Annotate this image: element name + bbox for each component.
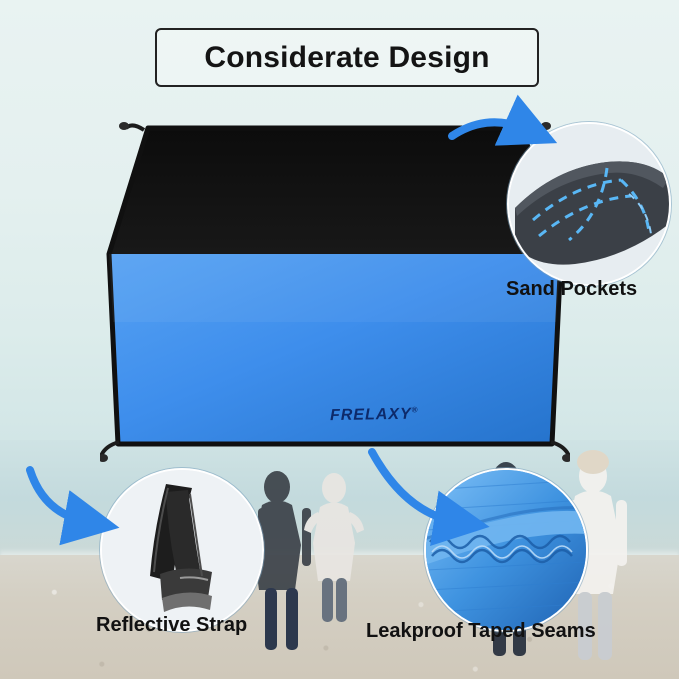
brand-logo: FRELAXY® [330,405,419,425]
callout-leakproof-taped-seams [424,468,588,632]
callout-sand-pockets [507,122,671,286]
brand-name: FRELAXY [330,406,412,424]
product-feature-image: Considerate Design [0,0,679,679]
title-banner: Considerate Design [155,28,539,87]
strap-icon [102,470,262,630]
page-title: Considerate Design [204,41,489,75]
callout-reflective-strap [100,468,264,632]
callout-label-reflective-strap: Reflective Strap [96,614,247,637]
brand-trademark-mark: ® [412,405,419,414]
callout-label-leakproof-taped-seams: Leakproof Taped Seams [366,620,596,643]
seam-icon [426,470,586,630]
corner-pocket-icon [509,124,669,284]
callout-label-sand-pockets: Sand Pockets [506,278,637,301]
